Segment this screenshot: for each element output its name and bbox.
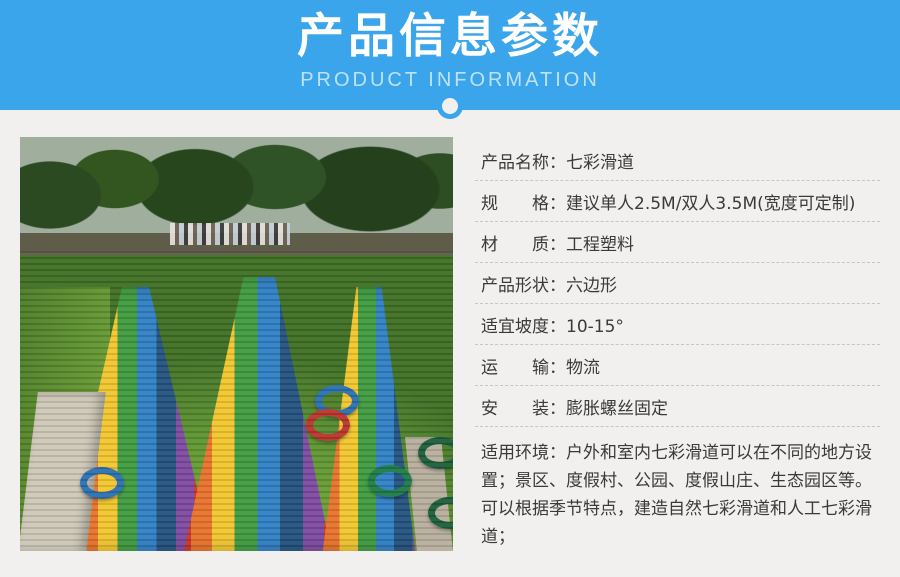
spec-value: 10-15°: [566, 317, 878, 337]
spec-label: 适宜坡度：: [481, 312, 566, 337]
table-row: 规 格： 建议单人2.5M/双人3.5M(宽度可定制): [475, 181, 880, 222]
product-information-page: 产品信息参数 PRODUCT INFORMATION: [0, 0, 900, 577]
spec-value: 物流: [566, 353, 878, 378]
table-row: 产品名称： 七彩滑道: [475, 140, 880, 181]
banner-subtitle: PRODUCT INFORMATION: [0, 66, 900, 94]
spec-value: 六边形: [566, 271, 878, 296]
spec-label: 规 格：: [481, 189, 566, 214]
photo-crowd-top: [170, 223, 290, 245]
photo-tube-2: [306, 409, 350, 441]
spec-label: 运 输：: [481, 353, 566, 378]
spec-value: 七彩滑道: [566, 148, 878, 173]
photo-tube-6: [80, 467, 124, 499]
page-banner: 产品信息参数 PRODUCT INFORMATION: [0, 0, 900, 110]
table-row: 材 质： 工程塑料: [475, 222, 880, 263]
table-row: 安 装： 膨胀螺丝固定: [475, 386, 880, 427]
content-area: 产品名称： 七彩滑道 规 格： 建议单人2.5M/双人3.5M(宽度可定制) 材…: [0, 110, 900, 551]
table-row: 产品形状： 六边形: [475, 263, 880, 304]
spec-label: 产品形状：: [481, 271, 566, 296]
spec-label: 产品名称：: [481, 148, 566, 173]
spec-value: 工程塑料: [566, 230, 878, 255]
spec-value: 膨胀螺丝固定: [566, 394, 878, 419]
photo-tube-3: [368, 465, 412, 497]
spec-table: 产品名称： 七彩滑道 规 格： 建议单人2.5M/双人3.5M(宽度可定制) 材…: [475, 137, 880, 551]
spec-label: 安 装：: [481, 394, 566, 419]
table-row: 运 输： 物流: [475, 345, 880, 386]
environment-note: 适用环境：户外和室内七彩滑道可以在不同的地方设置；景区、度假村、公园、度假山庄、…: [475, 427, 880, 551]
spec-label: 材 质：: [481, 230, 566, 255]
product-photo: [20, 137, 453, 551]
table-row: 适宜坡度： 10-15°: [475, 304, 880, 345]
environment-note-label: 适用环境：: [481, 443, 566, 463]
spec-value: 建议单人2.5M/双人3.5M(宽度可定制): [566, 189, 878, 214]
banner-title: 产品信息参数: [0, 8, 900, 66]
